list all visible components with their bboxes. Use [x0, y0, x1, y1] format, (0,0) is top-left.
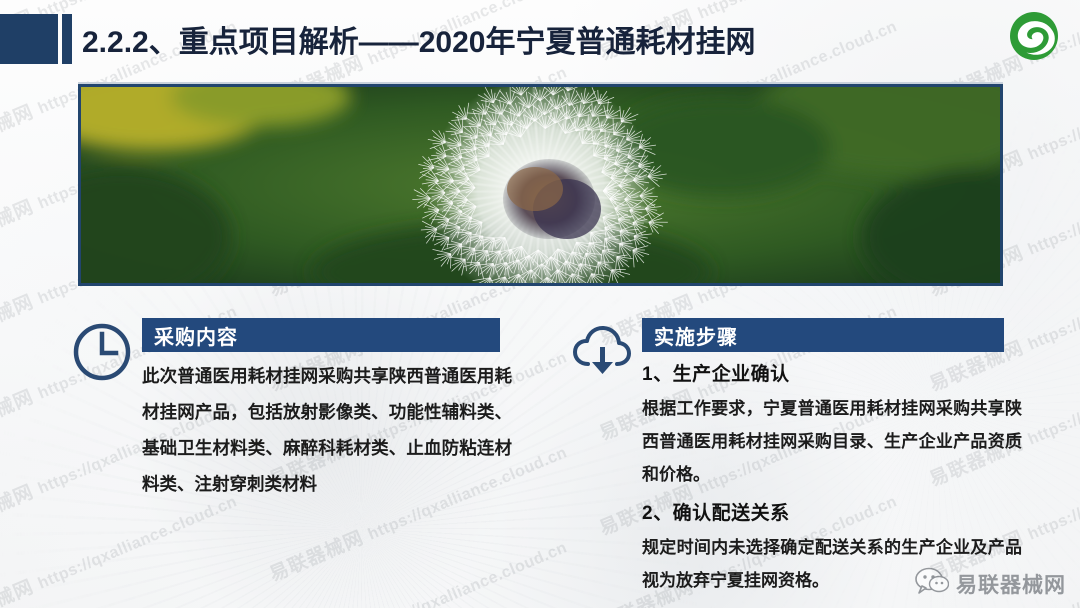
corner-watermark: 易联器械网 [915, 567, 1066, 600]
page-title: 2.2.2、重点项目解析——2020年宁夏普通耗材挂网 [82, 17, 755, 61]
implementation-steps-header: 实施步骤 [642, 318, 1004, 352]
wechat-bubble-icon [915, 567, 949, 600]
title-decor-block-small [62, 14, 72, 64]
purchase-content-header-label: 采购内容 [154, 321, 238, 350]
slide-canvas: 易联器械网 https://qxalliance.cloud.cn易联器械网 h… [0, 0, 1080, 608]
purchase-content-body: 此次普通医用耗材挂网采购共享陕西普通医用耗材挂网产品，包括放射影像类、功能性辅料… [142, 358, 512, 502]
implementation-steps-header-label: 实施步骤 [654, 321, 738, 350]
cloud-download-icon [570, 320, 634, 384]
corner-watermark-label: 易联器械网 [956, 569, 1066, 599]
step-1-title: 1、生产企业确认 [642, 358, 1022, 392]
dandelion-photo [78, 84, 1003, 286]
implementation-steps-body: 1、生产企业确认 根据工作要求，宁夏普通医用耗材挂网采购共享陕西普通医用耗材挂网… [642, 358, 1022, 597]
step-1-body: 根据工作要求，宁夏普通医用耗材挂网采购共享陕西普通医用耗材挂网采购目录、生产企业… [642, 392, 1022, 491]
title-band: 2.2.2、重点项目解析——2020年宁夏普通耗材挂网 [0, 0, 1080, 80]
step-2-title: 2、确认配送关系 [642, 497, 1022, 531]
clock-icon [70, 320, 134, 384]
green-e-logo [1008, 10, 1060, 62]
title-decor-block-large [0, 14, 58, 64]
purchase-content-header: 采购内容 [142, 318, 500, 352]
